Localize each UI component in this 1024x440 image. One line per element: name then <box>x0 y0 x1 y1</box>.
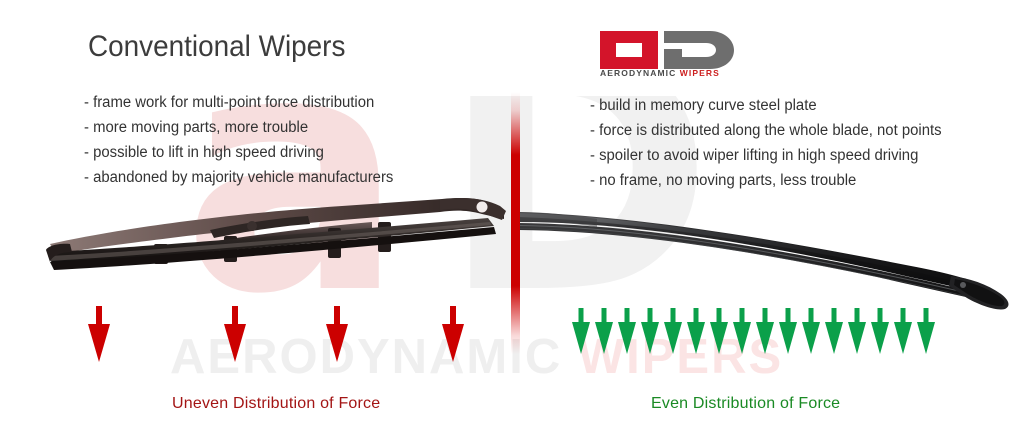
force-arrow-green <box>756 308 774 359</box>
force-arrow-green <box>871 308 889 359</box>
aerodynamic-wiper-image <box>519 206 1014 312</box>
list-item: - build in memory curve steel plate <box>590 93 942 118</box>
vertical-red-divider <box>511 92 520 354</box>
force-arrow-green <box>848 308 866 359</box>
left-panel-title: Conventional Wipers <box>88 30 345 64</box>
force-arrow-green <box>917 308 935 359</box>
force-arrow-green <box>710 308 728 359</box>
conventional-wiper-image <box>42 186 512 276</box>
brand-tagline: AERODYNAMIC WIPERS <box>600 68 720 78</box>
list-item: - abandoned by majority vehicle manufact… <box>84 165 393 190</box>
right-panel-caption: Even Distribution of Force <box>651 395 840 413</box>
list-item: - frame work for multi-point force distr… <box>84 90 393 115</box>
force-arrow-green <box>733 308 751 359</box>
force-arrow-green <box>779 308 797 359</box>
force-arrow-green <box>894 308 912 359</box>
force-arrow-green <box>595 308 613 359</box>
force-arrow-green <box>825 308 843 359</box>
left-panel-bullet-list: - frame work for multi-point force distr… <box>84 90 406 190</box>
even-force-arrows <box>560 308 940 358</box>
force-arrow-green <box>687 308 705 359</box>
uneven-force-arrows <box>60 306 500 366</box>
list-item: - more moving parts, more trouble <box>84 115 393 140</box>
force-arrow-red <box>442 306 464 367</box>
force-arrow-green <box>572 308 590 359</box>
list-item: - possible to lift in high speed driving <box>84 140 393 165</box>
force-arrow-green <box>664 308 682 359</box>
force-arrow-green <box>802 308 820 359</box>
force-arrow-red <box>88 306 110 367</box>
list-item: - no frame, no moving parts, less troubl… <box>590 168 942 193</box>
force-arrow-red <box>224 306 246 367</box>
left-panel-caption: Uneven Distribution of Force <box>172 395 380 413</box>
list-item: - force is distributed along the whole b… <box>590 118 942 143</box>
force-arrow-red <box>326 306 348 367</box>
force-arrow-green <box>618 308 636 359</box>
comparison-infographic: a D AERODYNAMIC WIPERS <box>0 0 1024 440</box>
right-panel-bullet-list: - build in memory curve steel plate - fo… <box>590 93 956 193</box>
force-arrow-green <box>641 308 659 359</box>
list-item: - spoiler to avoid wiper lifting in high… <box>590 143 942 168</box>
